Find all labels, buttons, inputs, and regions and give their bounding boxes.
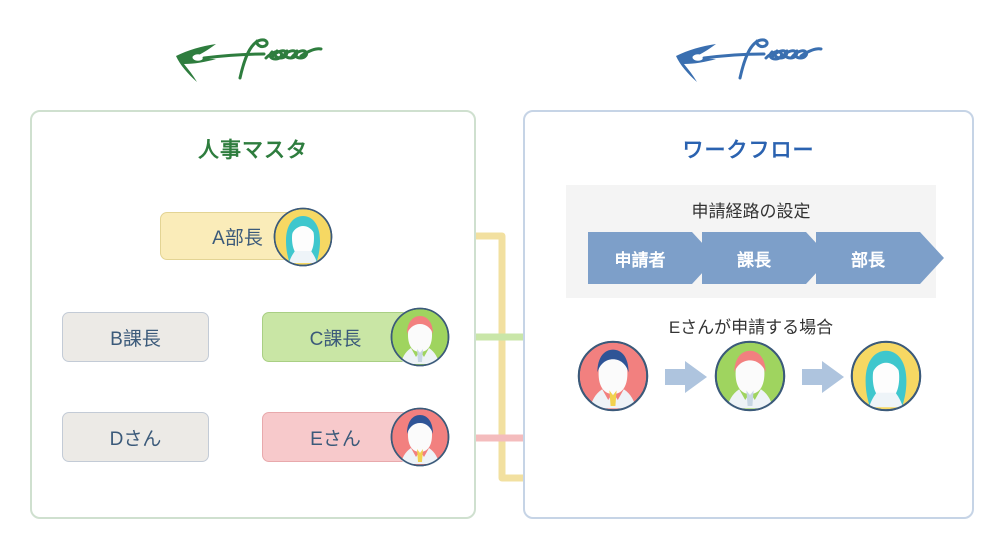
approval-route-title: 申請経路の設定 bbox=[566, 197, 936, 222]
example-avatar-director bbox=[850, 340, 922, 412]
workflow-title: ワークフロー bbox=[525, 134, 972, 164]
org-node-d[interactable]: Dさん bbox=[62, 412, 209, 462]
avatar-yellow-long-hair-a bbox=[273, 207, 333, 267]
approval-route-steps: 申請者 課長 部長 bbox=[588, 232, 930, 284]
route-step-manager[interactable]: 課長 bbox=[702, 232, 806, 284]
hr-master-title: 人事マスタ bbox=[32, 134, 474, 164]
route-step-director[interactable]: 部長 bbox=[816, 232, 920, 284]
org-node-d-label: Dさん bbox=[110, 424, 162, 451]
org-node-c-label: C課長 bbox=[310, 324, 362, 351]
org-node-a-label: A部長 bbox=[212, 223, 263, 250]
example-arrow-2-icon bbox=[802, 360, 846, 394]
approval-route-band: 申請経路の設定 申請者 課長 部長 bbox=[566, 185, 936, 298]
org-node-b-label: B課長 bbox=[110, 324, 161, 351]
example-case-label: Eさんが申請する場合 bbox=[566, 313, 936, 338]
route-step-applicant[interactable]: 申請者 bbox=[588, 232, 692, 284]
example-avatar-applicant bbox=[577, 340, 649, 412]
diagram-canvas: 人事マスタ A部長 B課長 C課長 Dさん Eさん bbox=[0, 0, 1000, 540]
org-node-e-label: Eさん bbox=[310, 424, 361, 451]
example-arrow-1-icon bbox=[665, 360, 709, 394]
avatar-red-navy-hair-e bbox=[390, 407, 450, 467]
org-node-c[interactable]: C課長 bbox=[262, 312, 409, 362]
route-step-applicant-label: 申請者 bbox=[615, 246, 666, 271]
route-step-director-label: 部長 bbox=[851, 246, 885, 271]
route-step-manager-label: 課長 bbox=[737, 246, 771, 271]
avatar-green-red-hair-c bbox=[390, 307, 450, 367]
org-node-e[interactable]: Eさん bbox=[262, 412, 409, 462]
example-avatar-manager bbox=[714, 340, 786, 412]
org-node-b[interactable]: B課長 bbox=[62, 312, 209, 362]
